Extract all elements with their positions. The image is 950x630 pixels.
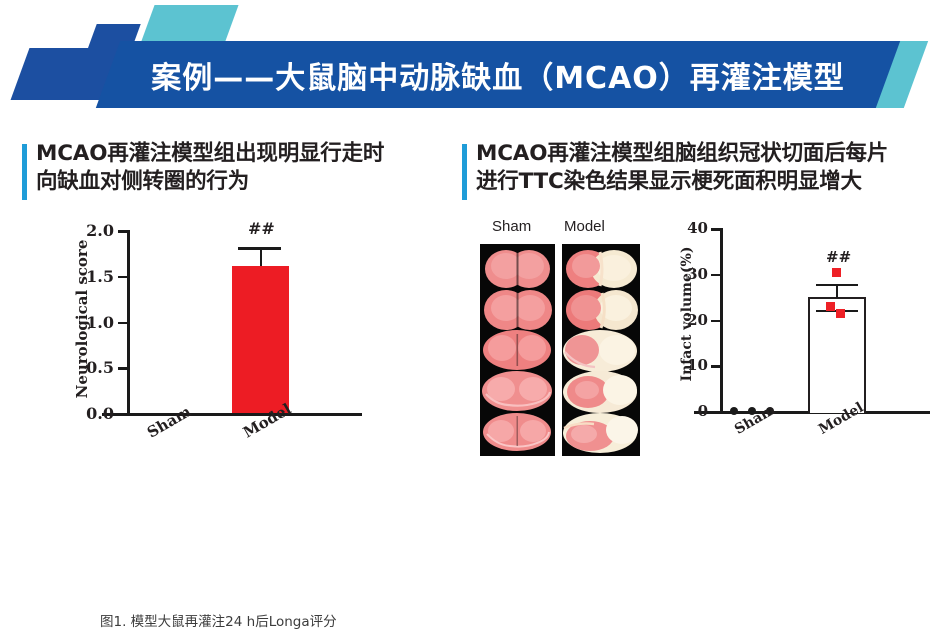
brain-slice-figure: Sham Model: [466, 218, 656, 240]
left-chart-significance-annotation: ##: [248, 219, 275, 238]
panel-right: MCAO再灌注模型组脑组织冠状切面后每片 进行TTC染色结果显示梗死面积明显增大…: [462, 140, 940, 200]
left-subtitle-line1: MCAO再灌注模型组出现明显行走时: [36, 140, 384, 168]
right-chart-xtick-label-sham: Sham: [732, 402, 778, 438]
left-chart-errorbar-stem-model: [260, 247, 262, 266]
left-subtitle-text: MCAO再灌注模型组出现明显行走时 向缺血对侧转圈的行为: [36, 140, 384, 197]
right-subtitle-block: MCAO再灌注模型组脑组织冠状切面后每片 进行TTC染色结果显示梗死面积明显增大: [462, 140, 940, 200]
brain-slices-model-svg: [562, 244, 640, 456]
left-chart-bar-model: [232, 266, 289, 413]
right-chart-errorbar-cap-model: [816, 284, 858, 287]
page-title: 案例——大鼠脑中动脉缺血（MCAO）再灌注模型: [118, 41, 878, 108]
right-chart-tick-30: [711, 274, 721, 277]
right-chart-scatter-model-3: [836, 309, 845, 318]
right-chart-tick-20: [711, 320, 721, 323]
right-subtitle-accent-bar: [462, 144, 467, 200]
left-chart-ytick-label-4: 2.0: [66, 221, 114, 240]
right-chart-scatter-sham-1: [730, 407, 738, 415]
brain-photo-sham: [480, 244, 555, 456]
left-chart-tick-10: [118, 322, 128, 325]
left-chart-ytick-label-0: 0.0: [66, 404, 114, 423]
right-chart-scatter-model-2: [826, 302, 835, 311]
right-chart-ytick-label-3: 30: [668, 265, 708, 283]
right-subtitle-line1: MCAO再灌注模型组脑组织冠状切面后每片: [476, 140, 888, 168]
right-chart-ytick-label-0: 0: [668, 402, 708, 420]
right-subtitle-line2: 进行TTC染色结果显示梗死面积明显增大: [476, 168, 888, 196]
left-chart-tick-2: [118, 230, 128, 233]
left-subtitle-accent-bar: [22, 144, 27, 200]
right-chart-tick-40: [711, 228, 721, 231]
right-chart-ytick-label-4: 40: [668, 219, 708, 237]
brain-slices-sham-svg: [480, 244, 555, 456]
left-chart-errorbar-cap-model: [238, 247, 281, 250]
left-chart-tick-15: [118, 276, 128, 279]
left-chart-ytick-label-2: 1.0: [66, 313, 114, 332]
right-chart-tick-10: [711, 365, 721, 368]
left-chart-xtick-label-sham: Sham: [144, 402, 194, 441]
right-chart-ytick-label-2: 20: [668, 311, 708, 329]
right-subtitle-text: MCAO再灌注模型组脑组织冠状切面后每片 进行TTC染色结果显示梗死面积明显增大: [476, 140, 888, 197]
header-banner: 案例——大鼠脑中动脉缺血（MCAO）再灌注模型: [0, 0, 950, 125]
right-chart-ytick-label-1: 10: [668, 356, 708, 374]
right-chart-significance-annotation: ##: [826, 248, 851, 266]
chart-neurological-score: Neurological score 2.0 1.5 1.0 0.5 0.0 #…: [52, 230, 372, 455]
right-chart-scatter-model-1: [832, 268, 841, 277]
brain-label-sham: Sham: [492, 218, 531, 235]
chart-infarct-volume: Infact volume(%) 40 30 20 10 0 ## Sham M…: [660, 228, 940, 453]
brain-photo-model: [562, 244, 640, 456]
panel-left: MCAO再灌注模型组出现明显行走时 向缺血对侧转圈的行为 Neurologica…: [22, 140, 462, 200]
left-chart-ytick-label-1: 0.5: [66, 358, 114, 377]
left-subtitle-line2: 向缺血对侧转圈的行为: [36, 168, 384, 196]
left-chart-tick-05: [118, 367, 128, 370]
left-chart-tick-00: [118, 413, 128, 416]
right-chart-tick-0: [711, 411, 721, 414]
left-chart-x-axis: [102, 413, 362, 416]
figure-caption-left: 图1. 模型大鼠再灌注24 h后Longa评分: [100, 610, 337, 630]
left-subtitle-block: MCAO再灌注模型组出现明显行走时 向缺血对侧转圈的行为: [22, 140, 462, 200]
brain-column-labels: Sham Model: [466, 218, 656, 240]
brain-label-model: Model: [564, 218, 605, 235]
left-chart-ytick-label-3: 1.5: [66, 267, 114, 286]
